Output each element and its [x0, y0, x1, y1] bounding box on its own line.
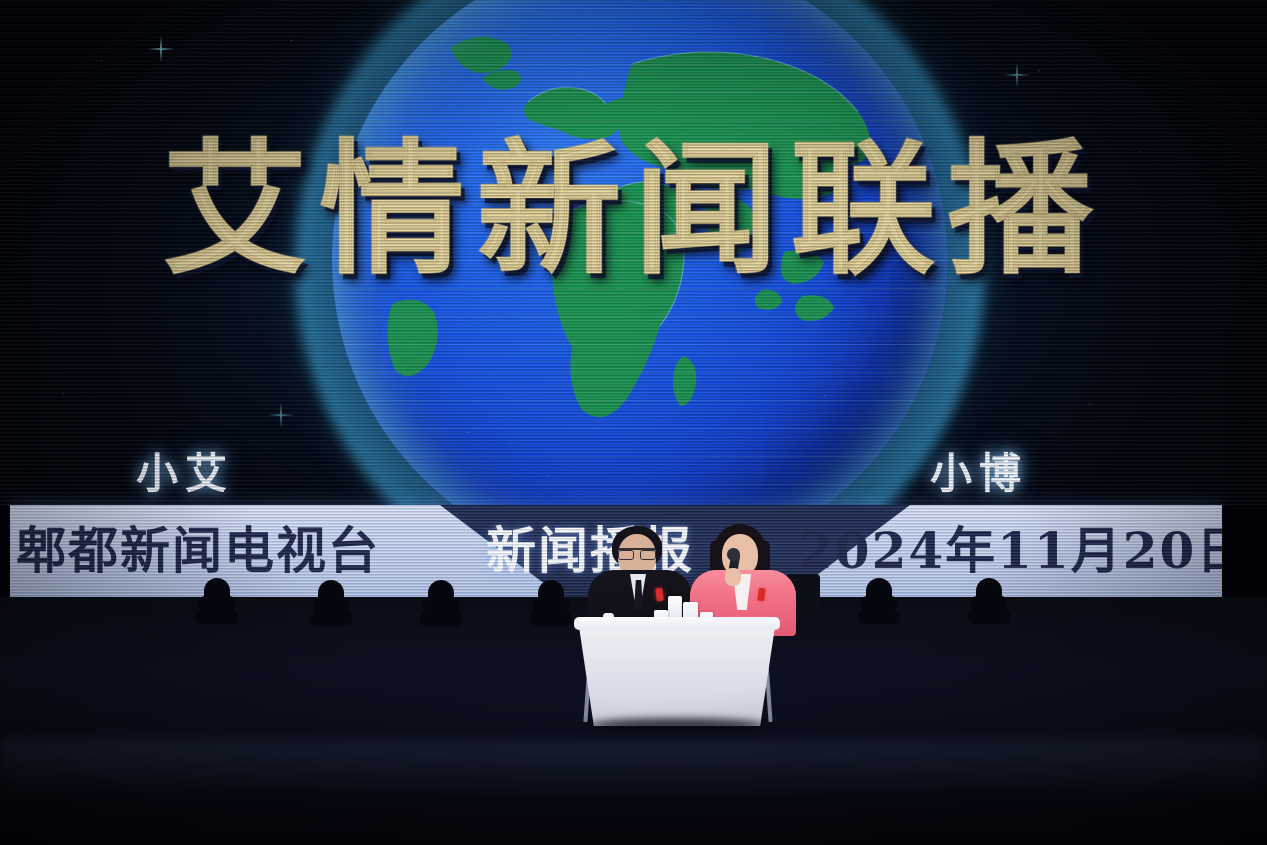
glasses-icon [618, 548, 656, 558]
presenter-name-right: 小博 [930, 440, 1028, 501]
globe-latitude-line [332, 484, 948, 485]
moving-head-light-icon [196, 578, 238, 624]
anchor-desk [578, 620, 776, 726]
led-video-wall: 艾情新闻联播 小艾 小博 [0, 0, 1267, 505]
globe-latitude-line [332, 64, 948, 65]
globe-latitude-line [332, 344, 948, 345]
hand-holding-mic [725, 568, 741, 586]
desk-top-edge [574, 617, 780, 630]
globe-latitude-line [332, 8, 948, 9]
globe-latitude-line [332, 428, 948, 429]
globe-latitude-line [332, 92, 948, 93]
moving-head-light-icon [310, 580, 352, 626]
floor-sheen [0, 740, 1267, 800]
globe-latitude-line [332, 400, 948, 401]
globe-latitude-line [332, 36, 948, 37]
moving-head-light-icon [968, 578, 1010, 624]
page-title: 艾情新闻联播 [0, 138, 1267, 283]
moving-head-light-icon [420, 580, 462, 626]
presenter-name-left: 小艾 [136, 440, 234, 501]
stage-scene: 艾情新闻联播 小艾 小博 郫都新闻电视台 新闻播报 2024年11月20日 [0, 0, 1267, 845]
microphone-head [727, 548, 740, 561]
globe-latitude-line [332, 316, 948, 317]
moving-head-light-icon [858, 578, 900, 624]
globe-latitude-line [332, 456, 948, 457]
globe-latitude-line [332, 120, 948, 121]
globe-latitude-line [332, 372, 948, 373]
desk-shadow [588, 718, 766, 732]
